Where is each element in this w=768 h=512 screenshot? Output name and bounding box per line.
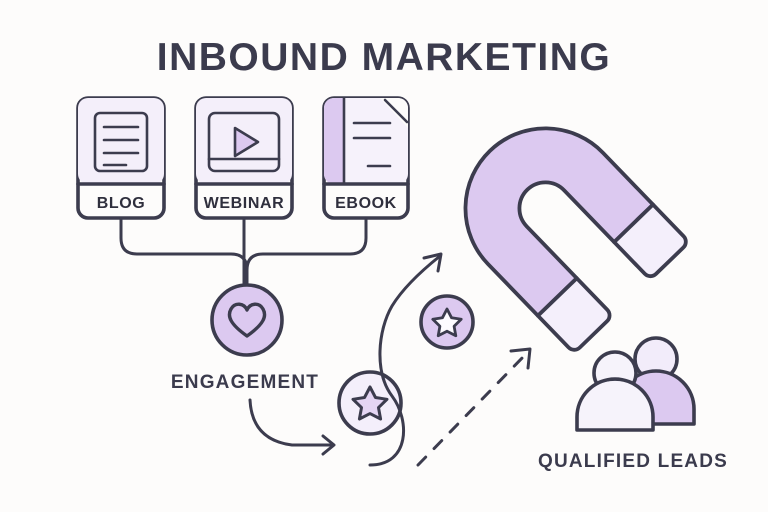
infographic-canvas: INBOUND MARKETING BLOG (0, 0, 768, 512)
card-label-ebook: EBOOK (335, 195, 397, 212)
card-label-webinar: WEBINAR (204, 195, 285, 212)
star-badge-lower[interactable] (339, 372, 401, 434)
connector-lines (121, 218, 366, 285)
engagement-node[interactable] (212, 285, 282, 355)
star-badge-upper[interactable] (421, 296, 473, 348)
card-label-blog: BLOG (97, 195, 146, 212)
card-webinar[interactable]: WEBINAR (196, 98, 292, 218)
engagement-label: ENGAGEMENT (171, 372, 319, 393)
people-icon (577, 338, 694, 430)
inbound-marketing-illustration: INBOUND MARKETING BLOG (0, 0, 768, 512)
arrow-leads-to-magnet (418, 349, 530, 465)
card-ebook[interactable]: EBOOK (324, 98, 408, 218)
card-blog[interactable]: BLOG (78, 98, 164, 218)
page-title: INBOUND MARKETING (157, 36, 611, 79)
qualified-leads-label: QUALIFIED LEADS (538, 451, 728, 472)
arrow-engagement-to-star (250, 400, 334, 454)
